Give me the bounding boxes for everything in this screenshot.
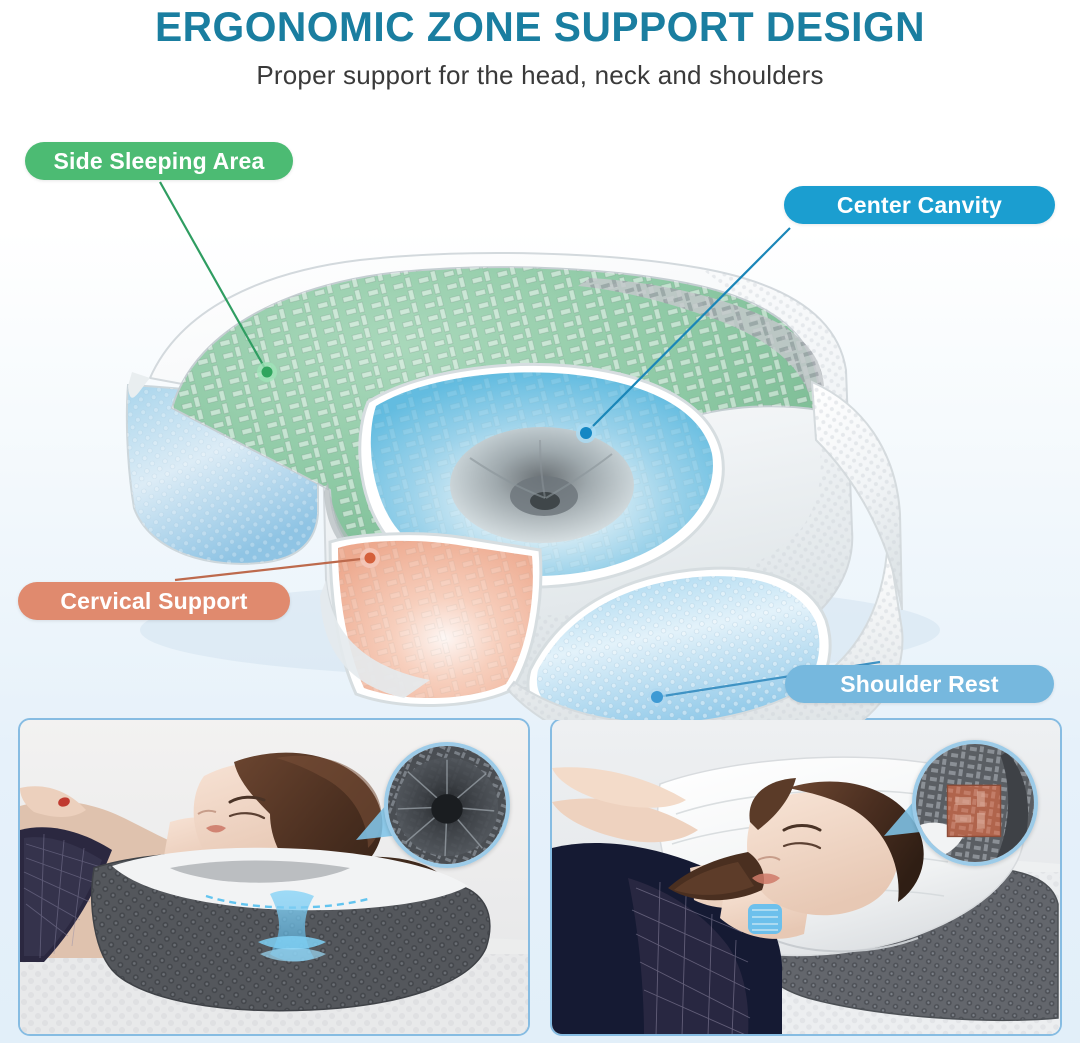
cervical-support-inset — [912, 740, 1038, 866]
callout-badge-cervical-support: Cervical Support — [18, 582, 290, 620]
marker-dot-center-canvity — [576, 423, 596, 443]
callout-badge-side-sleeping-area: Side Sleeping Area — [25, 142, 293, 180]
header: ERGONOMIC ZONE SUPPORT DESIGN Proper sup… — [0, 0, 1080, 91]
leader-line-cervical-support — [175, 558, 370, 580]
marker-dot-cervical-support — [360, 548, 380, 568]
cervical-support-inset-image — [916, 744, 1034, 862]
leader-line-side-sleeping — [160, 182, 267, 372]
neck-support-photo — [550, 718, 1062, 1036]
back-sleeping-photo — [18, 718, 530, 1036]
leader-line-center-canvity — [586, 228, 790, 433]
page-title: ERGONOMIC ZONE SUPPORT DESIGN — [16, 4, 1064, 49]
center-cavity-inset — [384, 742, 510, 868]
marker-dot-shoulder-rest — [648, 688, 666, 706]
marker-dot-side-sleeping — [257, 362, 277, 382]
callout-badge-shoulder-rest: Shoulder Rest — [785, 665, 1054, 703]
callout-badge-center-canvity: Center Canvity — [784, 186, 1055, 224]
center-cavity-inset-image — [388, 746, 506, 864]
lifestyle-photo-row — [0, 718, 1080, 1043]
pillow-diagram: Side Sleeping Area Center Canvity Cervic… — [0, 110, 1080, 720]
page-subtitle: Proper support for the head, neck and sh… — [0, 61, 1080, 91]
